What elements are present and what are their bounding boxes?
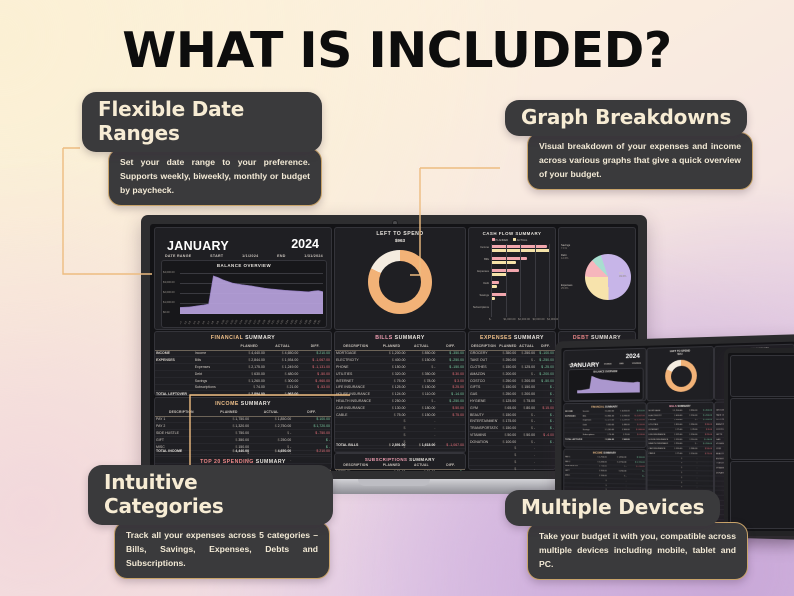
- callout-heading: Flexible Date Ranges: [82, 92, 322, 152]
- callout-body: Set your date range to your preference. …: [108, 148, 322, 206]
- callout-flexible-date-ranges: Flexible Date Ranges Set your date range…: [82, 92, 322, 206]
- callout-heading: Graph Breakdowns: [505, 100, 747, 136]
- callout-graph-breakdowns: Graph Breakdowns Visual breakdown of you…: [505, 100, 753, 190]
- callout-body: Track all your expenses across 5 categor…: [114, 521, 330, 579]
- callout-heading: Multiple Devices: [505, 490, 720, 526]
- callout-multiple-devices: Multiple Devices Take your budget it wit…: [505, 490, 750, 580]
- callout-heading: Intuitive Categories: [88, 465, 333, 525]
- callout-intuitive-categories: Intuitive Categories Track all your expe…: [88, 465, 333, 579]
- poster-canvas: WHAT IS INCLUDED? JANUARY 2024 DATE RANG…: [0, 0, 794, 596]
- callout-body: Visual breakdown of your expenses and in…: [527, 132, 753, 190]
- callout-body: Take your budget it with you, compatible…: [527, 522, 748, 580]
